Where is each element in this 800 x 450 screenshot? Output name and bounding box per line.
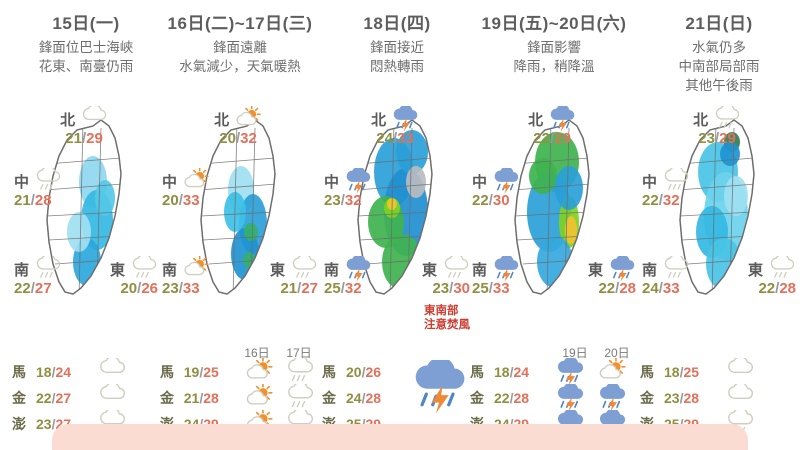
island-name: 馬 [12, 362, 32, 382]
island-sub-headers [640, 344, 798, 359]
footer-bar [52, 424, 748, 450]
island-sub-header: 19日 [554, 344, 596, 359]
header-row: 15日(一)鋒面位巴士海峽花東、南臺仍雨16日(二)~17日(三)鋒面遠離水氣減… [0, 0, 800, 108]
island-name: 金 [322, 388, 342, 408]
day-desc-line: 花東、南臺仍雨 [12, 57, 160, 76]
region-north: 北 20/32 [214, 108, 262, 148]
region-east: 東 22/28 [588, 258, 636, 298]
region-label: 東 [422, 259, 437, 280]
region-temps: 25/32 [324, 280, 372, 298]
island-weather-icon [90, 358, 132, 386]
region-south: 南 23/33 [162, 258, 210, 298]
cloud-icon [78, 106, 108, 132]
day-date: 18日(四) [322, 0, 472, 38]
thunderstorm-icon [342, 168, 372, 194]
map-area: 北 21/29 中 [12, 108, 160, 313]
island-row: 金 21/28 [160, 385, 320, 411]
region-label: 南 [324, 259, 339, 280]
region-east: 東 21/27 [270, 258, 318, 298]
region-north: 北 21/29 [60, 108, 108, 148]
map-area: 北 22/29 中 [470, 108, 638, 313]
region-label: 南 [472, 259, 487, 280]
island-weather-icon [718, 358, 760, 386]
rain-icon [766, 256, 796, 282]
rain-icon [711, 106, 741, 132]
cloud-icon [95, 384, 127, 412]
island-temps: 22/28 [490, 390, 548, 406]
day-column-1: 北 21/29 中 [12, 108, 160, 428]
region-temps: 25/33 [472, 280, 520, 298]
island-temps: 20/26 [342, 364, 400, 380]
day-header-1: 15日(一)鋒面位巴士海峽花東、南臺仍雨 [12, 0, 160, 76]
region-temps: 24/33 [642, 280, 690, 298]
sun-cloud-icon [232, 106, 262, 132]
rain-icon [283, 358, 315, 386]
region-south: 南 25/32 [324, 258, 372, 298]
map-area: 北 23/29 中 [640, 108, 798, 313]
rain-icon [660, 256, 690, 282]
thunderstorm-icon [342, 256, 372, 282]
rain-icon [283, 384, 315, 412]
region-temps: 24/33 [371, 130, 419, 148]
region-label: 東 [110, 259, 125, 280]
warning-text: 東南部注意焚風 [424, 304, 470, 332]
region-label: 北 [693, 109, 708, 130]
region-temps: 20/32 [214, 130, 262, 148]
day-header-3: 18日(四)鋒面接近悶熱轉雨 [322, 0, 472, 76]
region-temps: 22/28 [588, 280, 636, 298]
island-temps: 19/25 [180, 364, 237, 380]
region-temps: 21/28 [14, 192, 62, 210]
map-area: 北 20/32 中 20/33 [160, 108, 320, 313]
region-temps: 23/33 [162, 280, 210, 298]
region-north: 北 24/33 [371, 108, 419, 148]
island-temps: 24/28 [342, 390, 400, 406]
region-label: 中 [472, 171, 487, 192]
island-row: 馬 18/24 [12, 359, 160, 385]
region-temps: 20/33 [162, 192, 210, 210]
region-central: 中 20/33 [162, 170, 210, 210]
region-central: 中 22/32 [642, 170, 690, 210]
region-label: 北 [371, 109, 386, 130]
day-desc-line: 水氣減少，天氣暖熱 [160, 57, 320, 76]
rain-icon [440, 256, 470, 282]
sun-cloud-icon [242, 358, 274, 386]
island-sub-headers [12, 344, 160, 359]
day-header-2: 16日(二)~17日(三)鋒面遠離水氣減少，天氣暖熱 [160, 0, 320, 76]
rain-icon [32, 168, 62, 194]
region-label: 北 [214, 109, 229, 130]
island-sub-headers [322, 344, 472, 359]
island-weather-icon [279, 358, 320, 386]
region-label: 東 [270, 259, 285, 280]
island-name: 金 [470, 388, 490, 408]
island-row: 金 22/28 [470, 385, 638, 411]
day-desc-line: 鋒面影響 [470, 38, 638, 57]
region-south: 南 22/27 [14, 258, 62, 298]
island-name: 馬 [160, 362, 180, 382]
day-desc-line: 其他午後雨 [640, 76, 798, 95]
island-row: 馬 18/24 [470, 359, 638, 385]
region-label: 中 [14, 171, 29, 192]
region-temps: 22/30 [472, 192, 520, 210]
thunderstorm-icon [406, 360, 468, 413]
region-central: 中 21/28 [14, 170, 62, 210]
island-temps: 18/24 [32, 364, 90, 380]
region-temps: 22/27 [14, 280, 62, 298]
day-desc-line: 中南部局部雨 [640, 57, 798, 76]
region-temps: 23/30 [422, 280, 470, 298]
thunderstorm-icon [389, 106, 419, 132]
thunderstorm-icon [490, 168, 520, 194]
region-temps: 22/29 [528, 130, 576, 148]
island-row: 馬 18/25 [640, 359, 798, 385]
island-weather-icon [90, 384, 132, 412]
cloud-icon [95, 358, 127, 386]
day-date: 15日(一) [12, 0, 160, 38]
day-column-4: 北 22/29 中 [470, 108, 638, 428]
thunderstorm-icon [546, 106, 576, 132]
cloud-icon [723, 358, 755, 386]
region-central: 中 22/30 [472, 170, 520, 210]
island-name: 金 [640, 388, 660, 408]
thunderstorm-icon [490, 256, 520, 282]
island-temps: 22/27 [32, 390, 90, 406]
island-weather-icon [548, 384, 590, 412]
thunderstorm-icon [553, 384, 585, 412]
region-temps: 22/32 [642, 192, 690, 210]
island-weather-icon [237, 384, 278, 412]
region-label: 南 [14, 259, 29, 280]
sun-cloud-icon [595, 358, 627, 386]
island-temps: 21/28 [180, 390, 237, 406]
region-east: 東 20/26 [110, 258, 158, 298]
day-date: 16日(二)~17日(三) [160, 0, 320, 38]
rain-icon [128, 256, 158, 282]
island-weather-icon [237, 358, 278, 386]
island-weather-icon [718, 384, 760, 412]
island-row: 金 23/28 [640, 385, 798, 411]
day-header-5: 21日(日)水氣仍多中南部局部雨其他午後雨 [640, 0, 798, 95]
day-desc-line: 水氣仍多 [640, 38, 798, 57]
sun-cloud-icon [180, 168, 210, 194]
region-south: 南 24/33 [642, 258, 690, 298]
island-weather-icon [590, 358, 632, 386]
island-name: 金 [160, 388, 180, 408]
island-name: 馬 [640, 362, 660, 382]
island-weather-icon [590, 384, 632, 412]
thunderstorm-big-icon-wrap [406, 360, 468, 418]
region-north: 北 22/29 [528, 108, 576, 148]
region-south: 南 25/33 [472, 258, 520, 298]
island-name: 金 [12, 388, 32, 408]
rain-icon [660, 168, 690, 194]
island-weather-icon [548, 358, 590, 386]
region-label: 北 [528, 109, 543, 130]
day-header-4: 19日(五)~20日(六)鋒面影響降雨，稍降溫 [470, 0, 638, 76]
region-temps: 23/29 [693, 130, 741, 148]
thunderstorm-icon [606, 256, 636, 282]
day-date: 19日(五)~20日(六) [470, 0, 638, 38]
island-temps: 18/24 [490, 364, 548, 380]
region-label: 中 [642, 171, 657, 192]
day-date: 21日(日) [640, 0, 798, 38]
island-sub-headers: 19日20日 [470, 344, 638, 359]
day-desc-line: 鋒面接近 [322, 38, 472, 57]
island-name: 澎 [12, 414, 32, 434]
sun-cloud-icon [242, 384, 274, 412]
region-label: 中 [162, 171, 177, 192]
region-label: 北 [60, 109, 75, 130]
rain-icon [32, 256, 62, 282]
thunderstorm-icon [553, 358, 585, 386]
island-name: 馬 [322, 362, 342, 382]
day-desc-line: 悶熱轉雨 [322, 57, 472, 76]
region-east: 東 23/30 [422, 258, 470, 298]
region-temps: 23/32 [324, 192, 372, 210]
day-desc-line: 降雨，稍降溫 [470, 57, 638, 76]
region-label: 南 [642, 259, 657, 280]
cloud-icon [723, 384, 755, 412]
region-temps: 20/26 [110, 280, 158, 298]
island-sub-headers: 16日17日 [160, 344, 320, 359]
day-column-2: 北 20/32 中 20/33 [160, 108, 320, 428]
island-temps: 18/25 [660, 364, 718, 380]
island-row: 馬 19/25 [160, 359, 320, 385]
island-sub-header: 16日 [236, 344, 278, 359]
island-weather-icon [279, 384, 320, 412]
region-north: 北 23/29 [693, 108, 741, 148]
day-desc-line: 鋒面位巴士海峽 [12, 38, 160, 57]
sun-cloud-icon [180, 256, 210, 282]
region-label: 南 [162, 259, 177, 280]
thunderstorm-icon [595, 384, 627, 412]
day-column-3: 北 24/33 中 [322, 108, 472, 428]
region-label: 東 [748, 259, 763, 280]
island-sub-header: 17日 [278, 344, 320, 359]
day-desc-line: 鋒面遠離 [160, 38, 320, 57]
region-temps: 21/29 [60, 130, 108, 148]
rain-icon [288, 256, 318, 282]
island-sub-header: 20日 [596, 344, 638, 359]
island-temps: 23/28 [660, 390, 718, 406]
weather-forecast-board: 15日(一)鋒面位巴士海峽花東、南臺仍雨16日(二)~17日(三)鋒面遠離水氣減… [0, 0, 800, 450]
region-label: 中 [324, 171, 339, 192]
region-east: 東 22/28 [748, 258, 796, 298]
region-temps: 22/28 [748, 280, 796, 298]
island-name: 馬 [470, 362, 490, 382]
region-temps: 21/27 [270, 280, 318, 298]
day-column-5: 北 23/29 中 [640, 108, 798, 428]
island-row: 金 22/27 [12, 385, 160, 411]
region-central: 中 23/32 [324, 170, 372, 210]
map-area: 北 24/33 中 [322, 108, 472, 313]
region-label: 東 [588, 259, 603, 280]
